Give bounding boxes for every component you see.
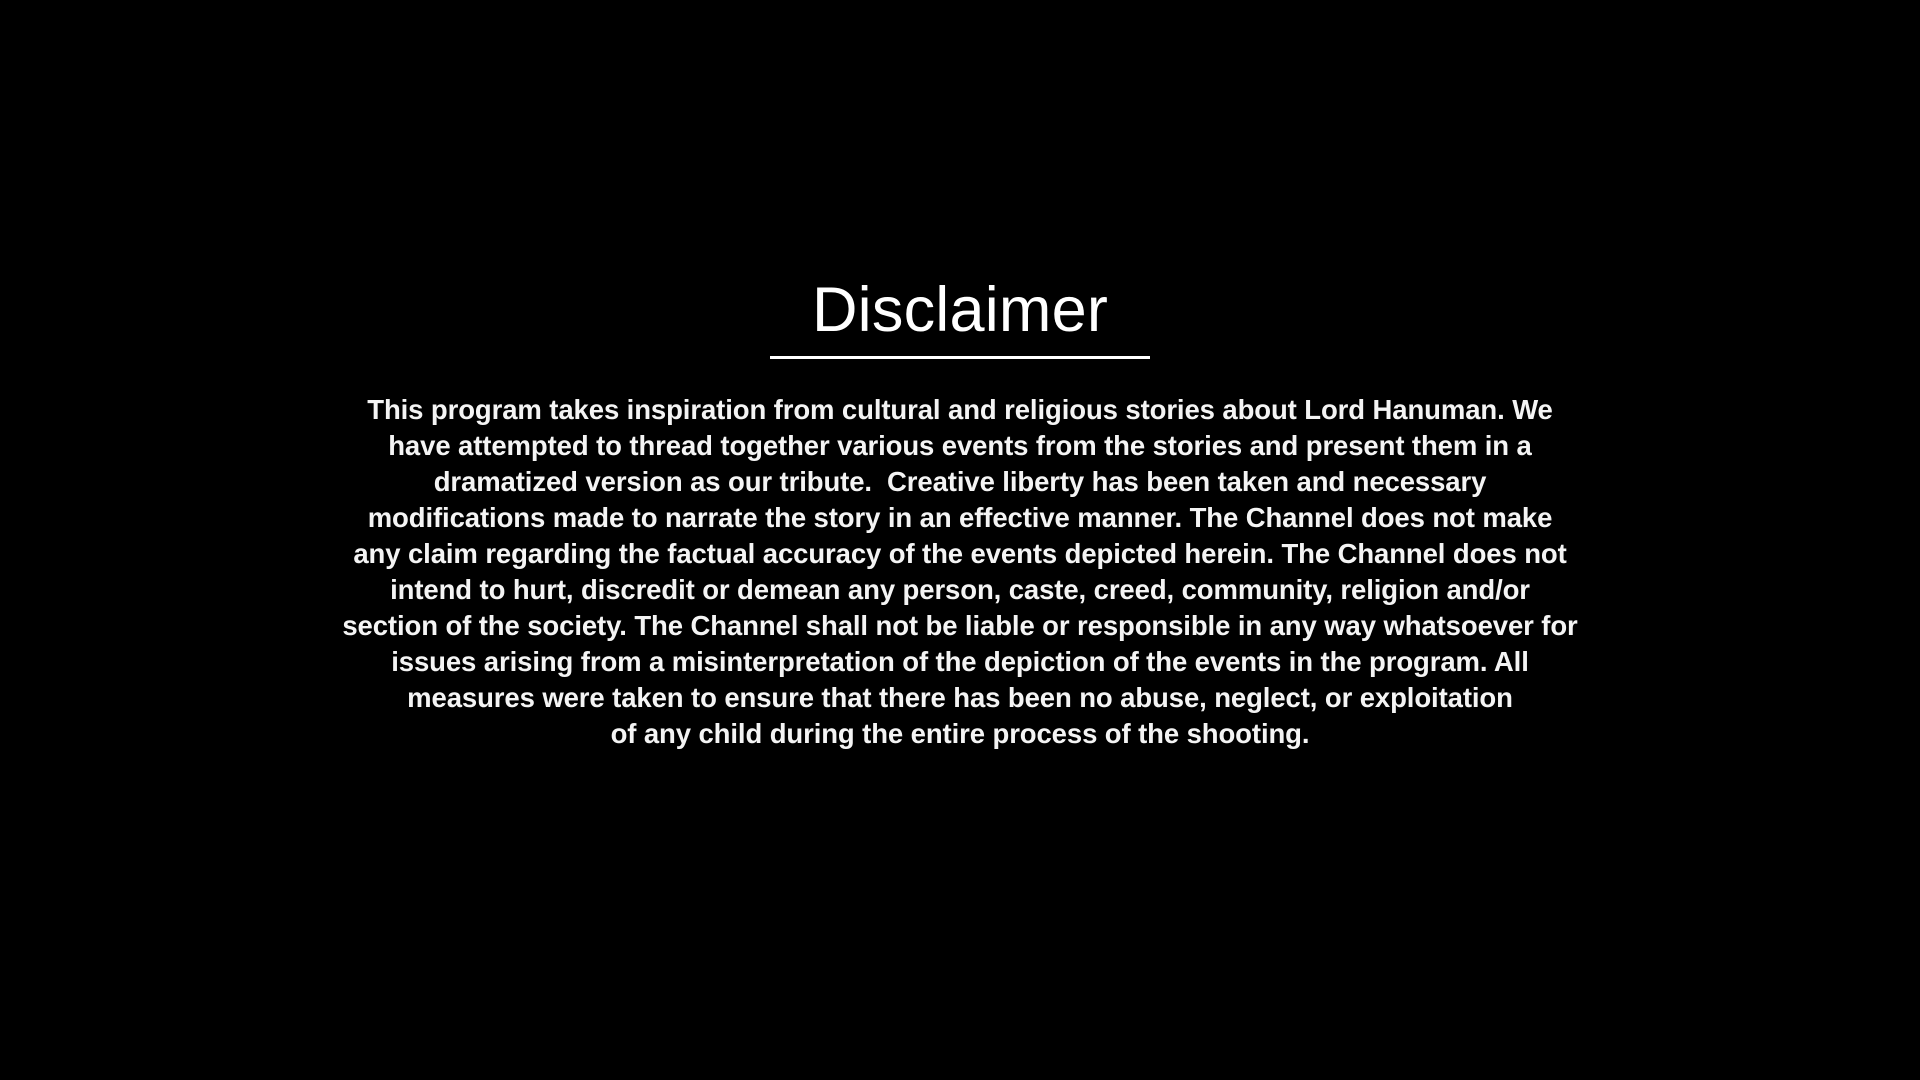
disclaimer-line: This program takes inspiration from cult… — [367, 392, 1553, 428]
title-group: Disclaimer — [770, 278, 1150, 359]
disclaimer-line: intend to hurt, discredit or demean any … — [390, 572, 1530, 608]
disclaimer-text-block: This program takes inspiration from cult… — [180, 392, 1740, 752]
disclaimer-line: modifications made to narrate the story … — [368, 500, 1553, 536]
disclaimer-line: of any child during the entire process o… — [611, 716, 1310, 752]
disclaimer-line: dramatized version as our tribute. Creat… — [434, 464, 1487, 500]
disclaimer-line: section of the society. The Channel shal… — [342, 608, 1577, 644]
disclaimer-line: any claim regarding the factual accuracy… — [353, 536, 1566, 572]
disclaimer-content-block: Disclaimer This program takes inspiratio… — [0, 0, 1920, 1080]
disclaimer-line: measures were taken to ensure that there… — [407, 680, 1513, 716]
disclaimer-line: issues arising from a misinterpretation … — [391, 644, 1529, 680]
disclaimer-slide: Disclaimer This program takes inspiratio… — [0, 0, 1920, 1080]
title-underline-rule — [770, 356, 1150, 359]
disclaimer-line: have attempted to thread together variou… — [388, 428, 1532, 464]
page-title: Disclaimer — [812, 278, 1108, 342]
